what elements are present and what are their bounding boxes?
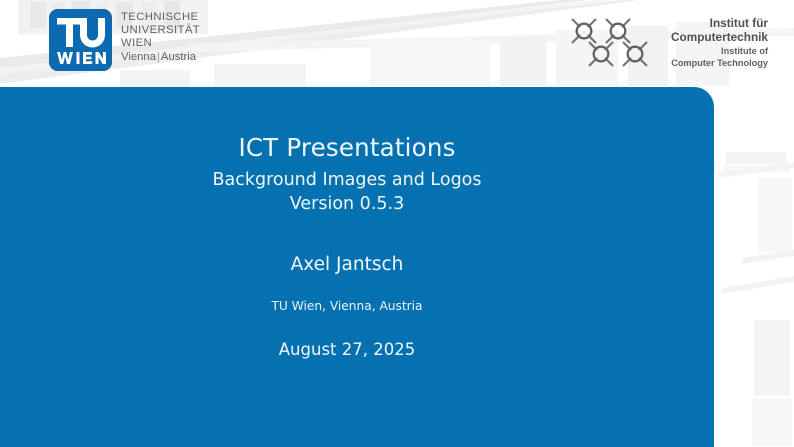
presentation-title-slide: TECHNISCHE UNIVERSITÄT WIEN Vienna|Austr…: [0, 0, 794, 447]
ict-english-line-2: Computer Technology: [671, 58, 768, 69]
presentation-date: August 27, 2025: [0, 340, 694, 359]
tu-line-universitaet: UNIVERSITÄT: [121, 24, 200, 37]
tu-line-technische: TECHNISCHE: [121, 11, 200, 24]
subtitle-line-1: Background Images and Logos: [0, 170, 694, 190]
ict-german-line-1: Institut für: [671, 16, 768, 30]
tu-wien-logo-icon: [49, 9, 112, 71]
title-panel: ICT Presentations Background Images and …: [0, 87, 714, 447]
tu-wien-logo: TECHNISCHE UNIVERSITÄT WIEN Vienna|Austr…: [49, 9, 200, 71]
tu-city: Vienna: [121, 51, 156, 63]
tu-country: Austria: [161, 51, 196, 63]
ict-institute-wordmark: Institut für Computertechnik Institute o…: [671, 14, 768, 69]
ict-german-line-2: Computertechnik: [671, 30, 768, 44]
author-affiliation: TU Wien, Vienna, Austria: [0, 299, 694, 313]
ict-english-line-1: Institute of: [671, 46, 768, 57]
slide-header: TECHNISCHE UNIVERSITÄT WIEN Vienna|Austr…: [0, 0, 794, 87]
author-name: Axel Jantsch: [0, 254, 694, 275]
tu-wien-wordmark: TECHNISCHE UNIVERSITÄT WIEN Vienna|Austr…: [121, 9, 200, 64]
ict-network-nodes-icon: [567, 14, 663, 70]
page-title: ICT Presentations: [0, 133, 694, 162]
ict-institute-logo: Institut für Computertechnik Institute o…: [567, 14, 768, 70]
subtitle-version: Version 0.5.3: [0, 194, 694, 214]
tu-line-location: Vienna|Austria: [121, 51, 200, 64]
tu-line-wien: WIEN: [121, 37, 200, 50]
